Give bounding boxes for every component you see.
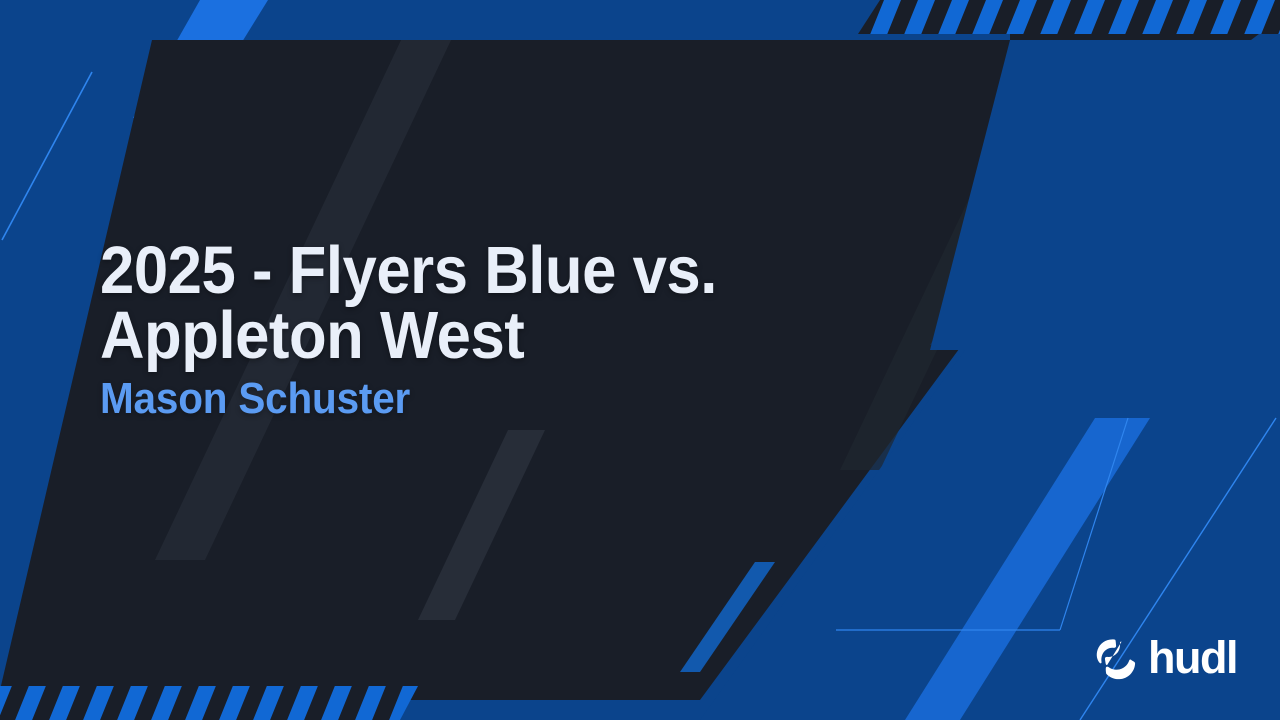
page-title: 2025 - Flyers Blue vs. Appleton West <box>100 238 799 368</box>
hudl-logo-mark-icon <box>1093 636 1139 682</box>
hazard-stripes-top-right <box>858 0 1280 34</box>
title-slide: 2025 - Flyers Blue vs. Appleton West Mas… <box>0 0 1280 720</box>
page-subtitle: Mason Schuster <box>100 377 799 421</box>
hudl-logo: hudl <box>1093 636 1237 682</box>
hazard-stripes-bottom-left <box>0 686 418 720</box>
hudl-wordmark: hudl <box>1148 635 1237 680</box>
title-block: 2025 - Flyers Blue vs. Appleton West Mas… <box>100 238 860 421</box>
